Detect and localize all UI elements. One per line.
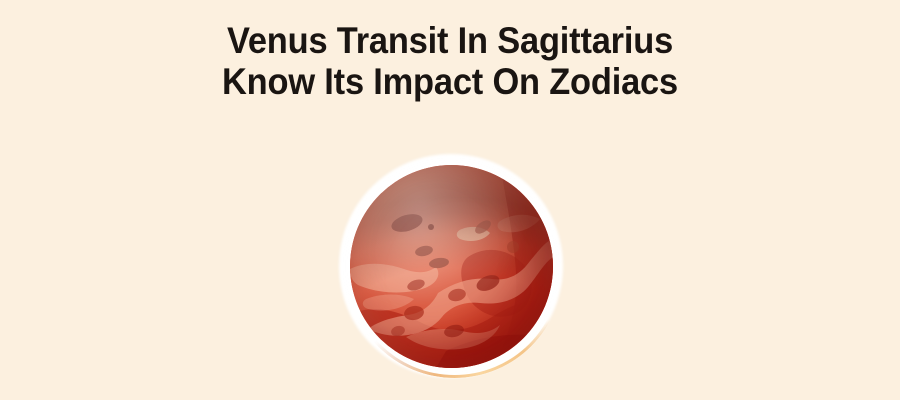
title-line-2: Know Its Impact On Zodiacs xyxy=(32,61,869,102)
venus-planet-illustration xyxy=(330,145,572,387)
poster-canvas: Venus Transit In Sagittarius Know Its Im… xyxy=(0,0,900,400)
planet-globe xyxy=(350,165,553,368)
page-title: Venus Transit In Sagittarius Know Its Im… xyxy=(32,20,869,103)
title-line-1: Venus Transit In Sagittarius xyxy=(32,20,869,61)
